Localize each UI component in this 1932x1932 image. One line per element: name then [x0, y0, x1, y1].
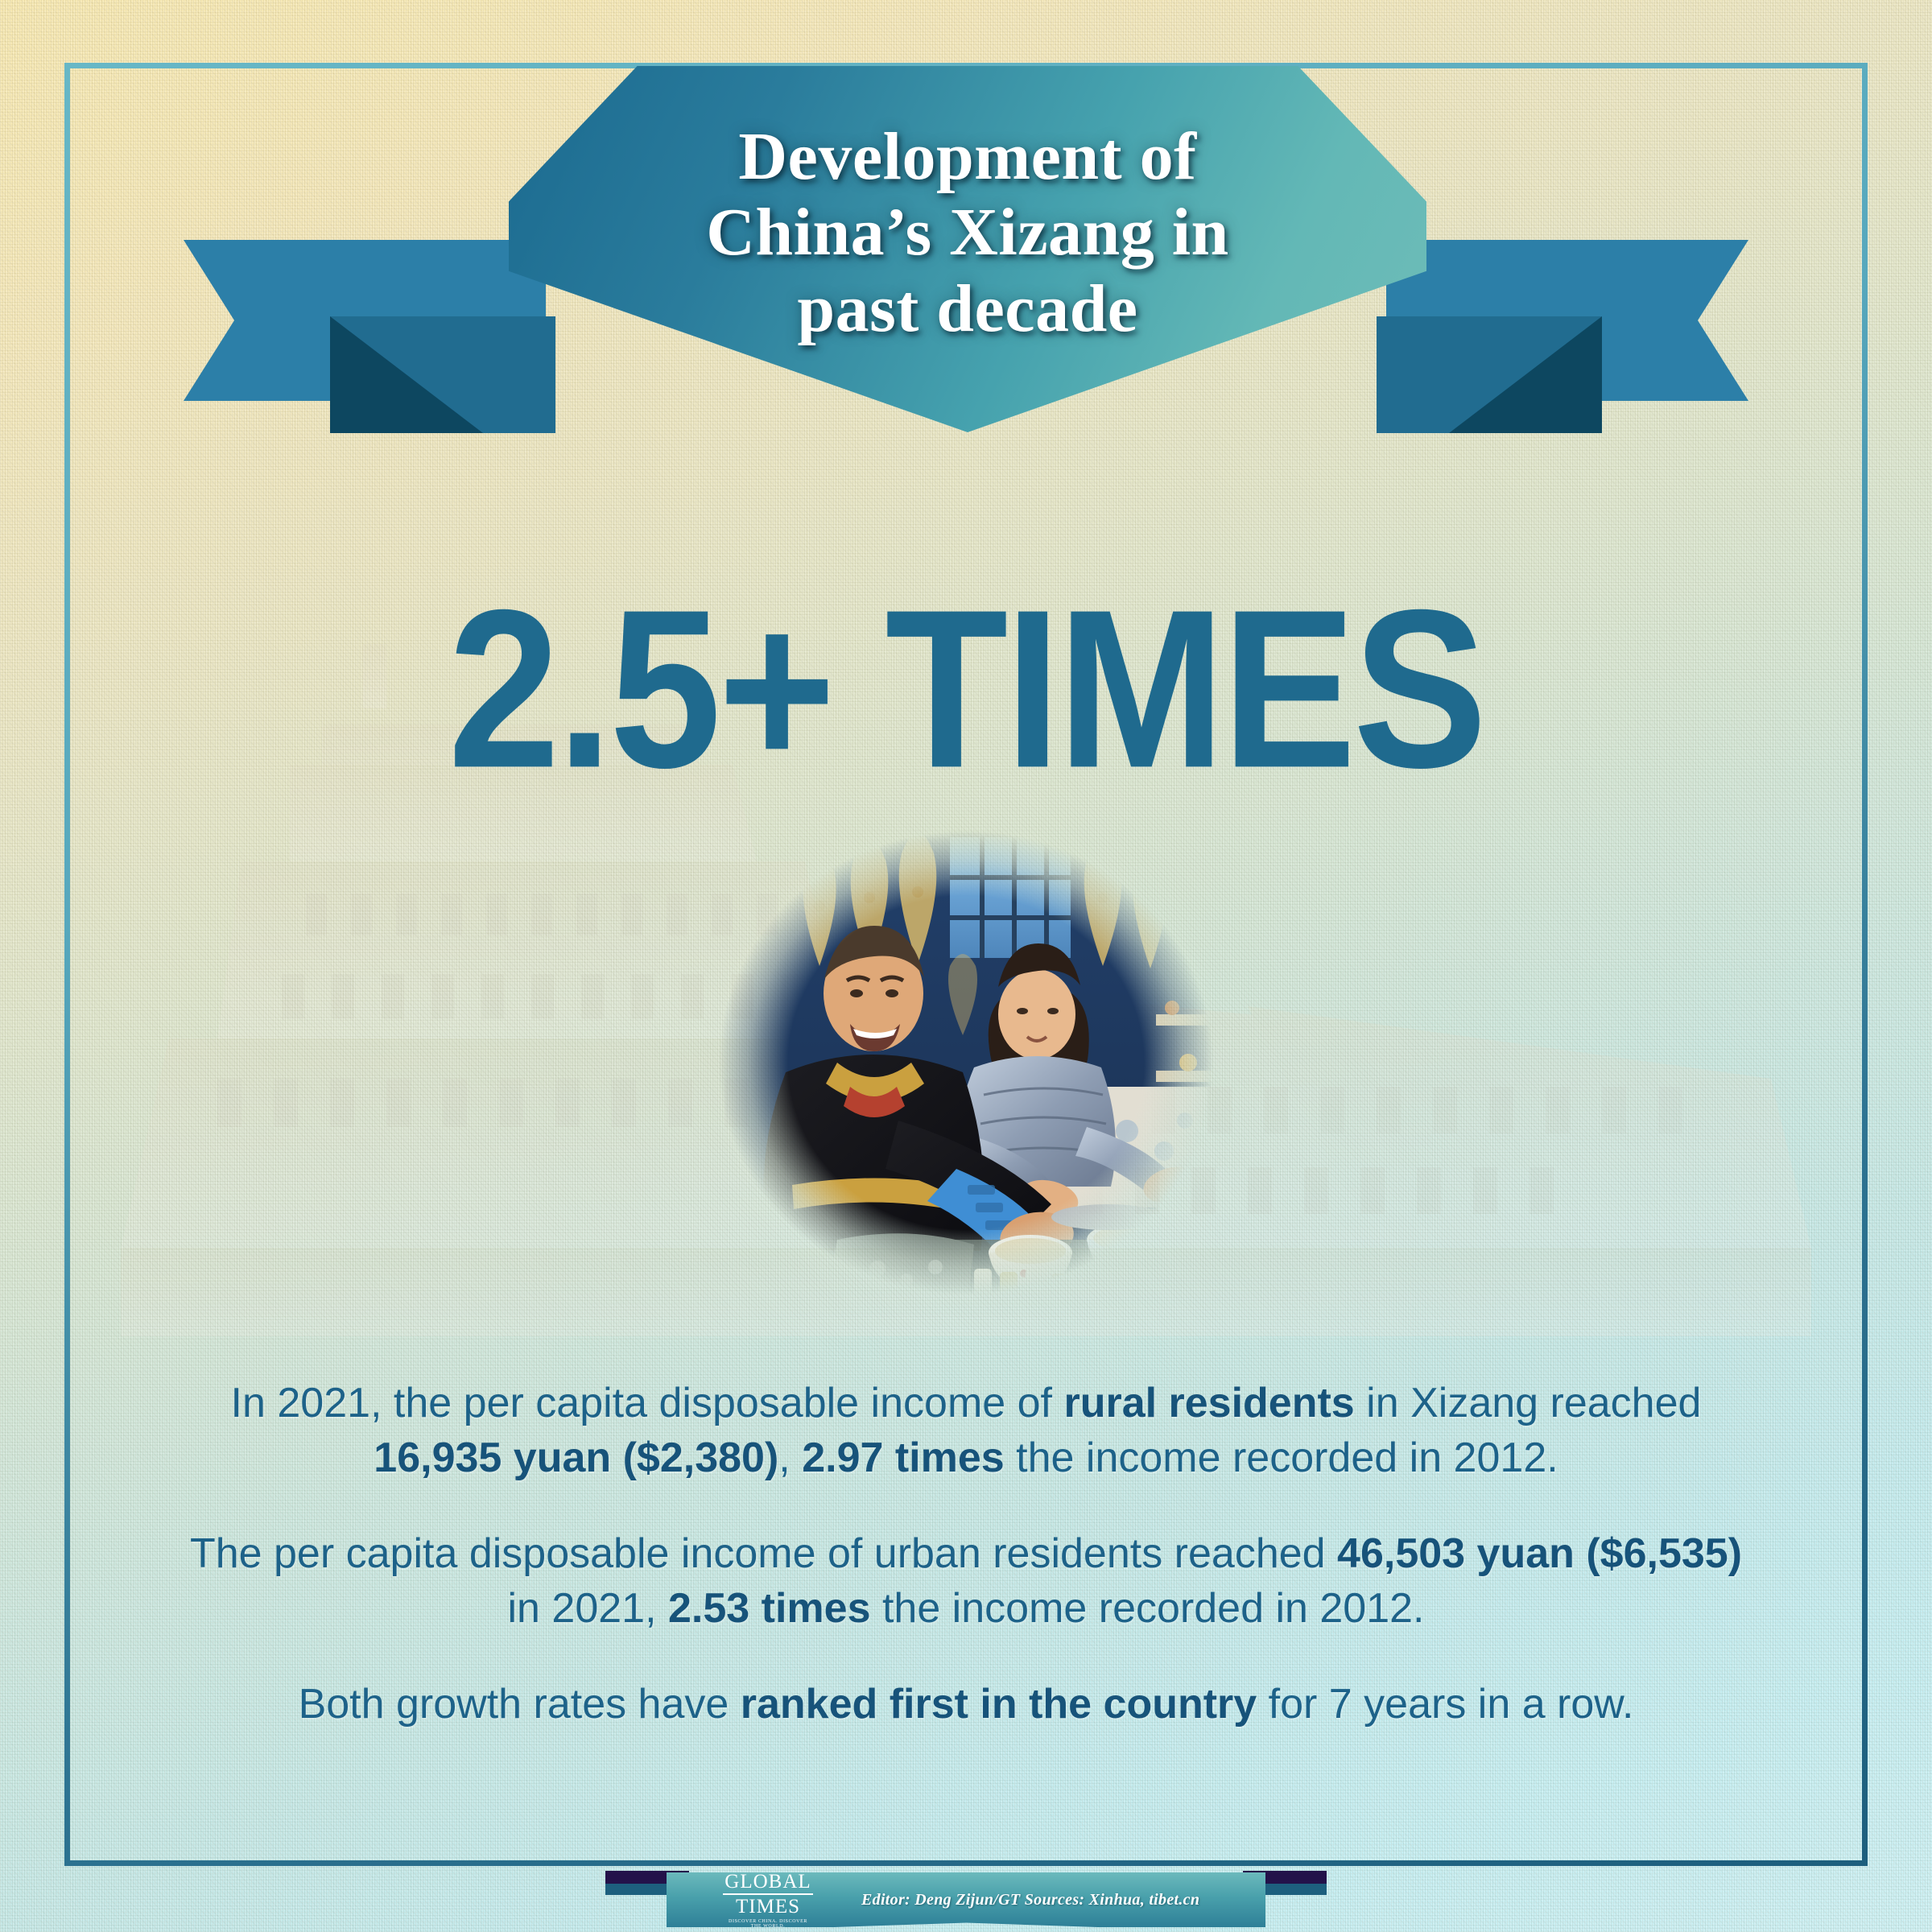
- logo-line-times: TIMES: [723, 1897, 813, 1917]
- paragraph-growth-rank: Both growth rates have ranked first in t…: [185, 1678, 1747, 1732]
- logo-rule: [723, 1893, 813, 1895]
- logo-tagline: DISCOVER CHINA. DISCOVER THE WORLD.: [723, 1919, 813, 1929]
- photo-illustration: [708, 821, 1224, 1304]
- feature-photo: [708, 821, 1224, 1304]
- paragraph-urban-income: The per capita disposable income of urba…: [185, 1527, 1747, 1636]
- page-title-line-3: past decade: [706, 271, 1229, 347]
- footer-credit: Editor: Deng Zijun/GT Sources: Xinhua, t…: [861, 1891, 1199, 1909]
- page-title-line-1: Development of: [706, 119, 1229, 195]
- body-copy: In 2021, the per capita disposable incom…: [185, 1377, 1747, 1774]
- global-times-logo: GLOBAL TIMES DISCOVER CHINA. DISCOVER TH…: [723, 1872, 813, 1929]
- logo-line-global: GLOBAL: [723, 1872, 813, 1892]
- footer-banner: GLOBAL TIMES DISCOVER CHINA. DISCOVER TH…: [667, 1872, 1265, 1927]
- infographic-poster: Development of China’s Xizang in past de…: [0, 0, 1932, 1932]
- headline-statistic: 2.5+ TIMES: [0, 576, 1932, 802]
- title-hexagon: Development of China’s Xizang in past de…: [509, 66, 1426, 432]
- page-title: Development of China’s Xizang in past de…: [706, 119, 1229, 378]
- title-ribbon: Development of China’s Xizang in past de…: [0, 0, 1932, 467]
- page-title-line-2: China’s Xizang in: [706, 195, 1229, 270]
- paragraph-rural-income: In 2021, the per capita disposable incom…: [185, 1377, 1747, 1485]
